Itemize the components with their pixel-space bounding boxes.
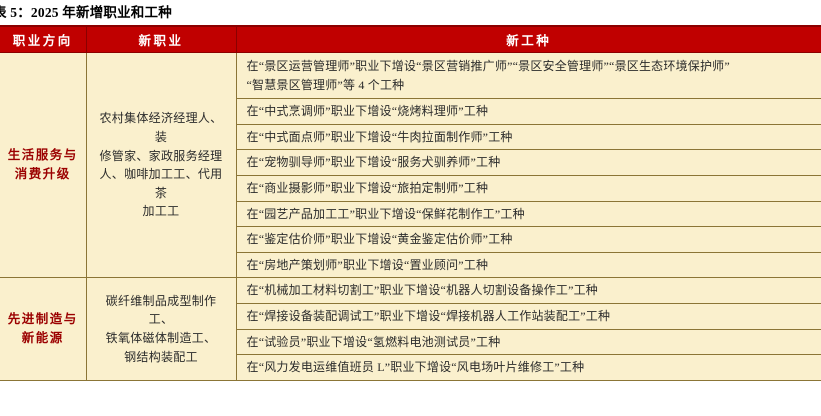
cell-new-trade: 在“机械加工材料切割工”职业下增设“机器人切割设备操作工”工种 bbox=[236, 278, 821, 304]
column-header-direction: 职业方向 bbox=[0, 26, 86, 53]
table-row: 生活服务与消费升级农村集体经济经理人、装修管家、家政服务经理人、咖啡加工工、代用… bbox=[0, 53, 821, 99]
new-trade-line: 在“机械加工材料切割工”职业下增设“机器人切割设备操作工”工种 bbox=[247, 281, 814, 300]
new-trade-line: 在“商业摄影师”职业下增设“旅拍定制师”工种 bbox=[247, 179, 814, 198]
column-header-new-job: 新职业 bbox=[86, 26, 236, 53]
cell-new-jobs-1: 碳纤维制品成型制作工、铁氧体磁体制造工、钢结构装配工 bbox=[86, 278, 236, 380]
cell-new-trade: 在“风力发电运维值班员 L”职业下增设“风电场叶片维修工”工种 bbox=[236, 355, 821, 381]
cell-new-jobs-0: 农村集体经济经理人、装修管家、家政服务经理人、咖啡加工工、代用茶加工工 bbox=[86, 53, 236, 278]
page-title: 表 5：2025 年新增职业和工种 bbox=[0, 0, 172, 25]
direction-line: 消费升级 bbox=[2, 165, 84, 184]
cell-direction-0: 生活服务与消费升级 bbox=[0, 53, 86, 278]
column-header-new-trade: 新工种 bbox=[236, 26, 821, 53]
new-job-line: 农村集体经济经理人、装 bbox=[97, 109, 226, 146]
new-trade-line: “智慧景区管理师”等 4 个工种 bbox=[247, 76, 814, 95]
new-job-line: 人、咖啡加工工、代用茶 bbox=[97, 165, 226, 202]
new-trade-line: 在“试验员”职业下增设“氢燃料电池测试员”工种 bbox=[247, 333, 814, 352]
cell-new-trade: 在“鉴定估价师”职业下增设“黄金鉴定估价师”工种 bbox=[236, 227, 821, 253]
cell-direction-1: 先进制造与新能源 bbox=[0, 278, 86, 380]
new-trade-line: 在“中式面点师”职业下增设“牛肉拉面制作师”工种 bbox=[247, 128, 814, 147]
cell-new-trade: 在“试验员”职业下增设“氢燃料电池测试员”工种 bbox=[236, 329, 821, 355]
table-body: 生活服务与消费升级农村集体经济经理人、装修管家、家政服务经理人、咖啡加工工、代用… bbox=[0, 53, 821, 381]
new-trade-line: 在“景区运营管理师”职业下增设“景区营销推广师”“景区安全管理师”“景区生态环境… bbox=[247, 57, 814, 76]
cell-new-trade: 在“景区运营管理师”职业下增设“景区营销推广师”“景区安全管理师”“景区生态环境… bbox=[236, 53, 821, 99]
page-root: 表 5：2025 年新增职业和工种 职业方向 新职业 新工种 生活服务与消费升级… bbox=[0, 0, 821, 416]
cell-new-trade: 在“宠物驯导师”职业下增设“服务犬驯养师”工种 bbox=[236, 150, 821, 176]
new-occupations-table: 职业方向 新职业 新工种 生活服务与消费升级农村集体经济经理人、装修管家、家政服… bbox=[0, 25, 821, 381]
direction-line: 生活服务与 bbox=[2, 146, 84, 165]
cell-new-trade: 在“中式烹调师”职业下增设“烧烤料理师”工种 bbox=[236, 99, 821, 125]
new-job-line: 修管家、家政服务经理 bbox=[97, 147, 226, 166]
direction-line: 新能源 bbox=[2, 329, 84, 348]
cell-new-trade: 在“商业摄影师”职业下增设“旅拍定制师”工种 bbox=[236, 175, 821, 201]
new-job-line: 加工工 bbox=[97, 202, 226, 221]
table-row: 先进制造与新能源碳纤维制品成型制作工、铁氧体磁体制造工、钢结构装配工在“机械加工… bbox=[0, 278, 821, 304]
new-job-line: 钢结构装配工 bbox=[97, 348, 226, 367]
new-trade-line: 在“宠物驯导师”职业下增设“服务犬驯养师”工种 bbox=[247, 153, 814, 172]
new-trade-line: 在“风力发电运维值班员 L”职业下增设“风电场叶片维修工”工种 bbox=[247, 358, 814, 377]
cell-new-trade: 在“园艺产品加工工”职业下增设“保鲜花制作工”工种 bbox=[236, 201, 821, 227]
direction-line: 先进制造与 bbox=[2, 310, 84, 329]
table-caption: 表 5：2025 年新增职业和工种 bbox=[0, 0, 821, 25]
new-trade-line: 在“焊接设备装配调试工”职业下增设“焊接机器人工作站装配工”工种 bbox=[247, 307, 814, 326]
new-trade-line: 在“中式烹调师”职业下增设“烧烤料理师”工种 bbox=[247, 102, 814, 121]
new-job-line: 碳纤维制品成型制作工、 bbox=[97, 292, 226, 329]
new-trade-line: 在“园艺产品加工工”职业下增设“保鲜花制作工”工种 bbox=[247, 205, 814, 224]
table-header-row: 职业方向 新职业 新工种 bbox=[0, 26, 821, 53]
cell-new-trade: 在“房地产策划师”职业下增设“置业顾问”工种 bbox=[236, 252, 821, 278]
cell-new-trade: 在“中式面点师”职业下增设“牛肉拉面制作师”工种 bbox=[236, 124, 821, 150]
new-trade-line: 在“鉴定估价师”职业下增设“黄金鉴定估价师”工种 bbox=[247, 230, 814, 249]
new-trade-line: 在“房地产策划师”职业下增设“置业顾问”工种 bbox=[247, 256, 814, 275]
new-job-line: 铁氧体磁体制造工、 bbox=[97, 329, 226, 348]
cell-new-trade: 在“焊接设备装配调试工”职业下增设“焊接机器人工作站装配工”工种 bbox=[236, 303, 821, 329]
